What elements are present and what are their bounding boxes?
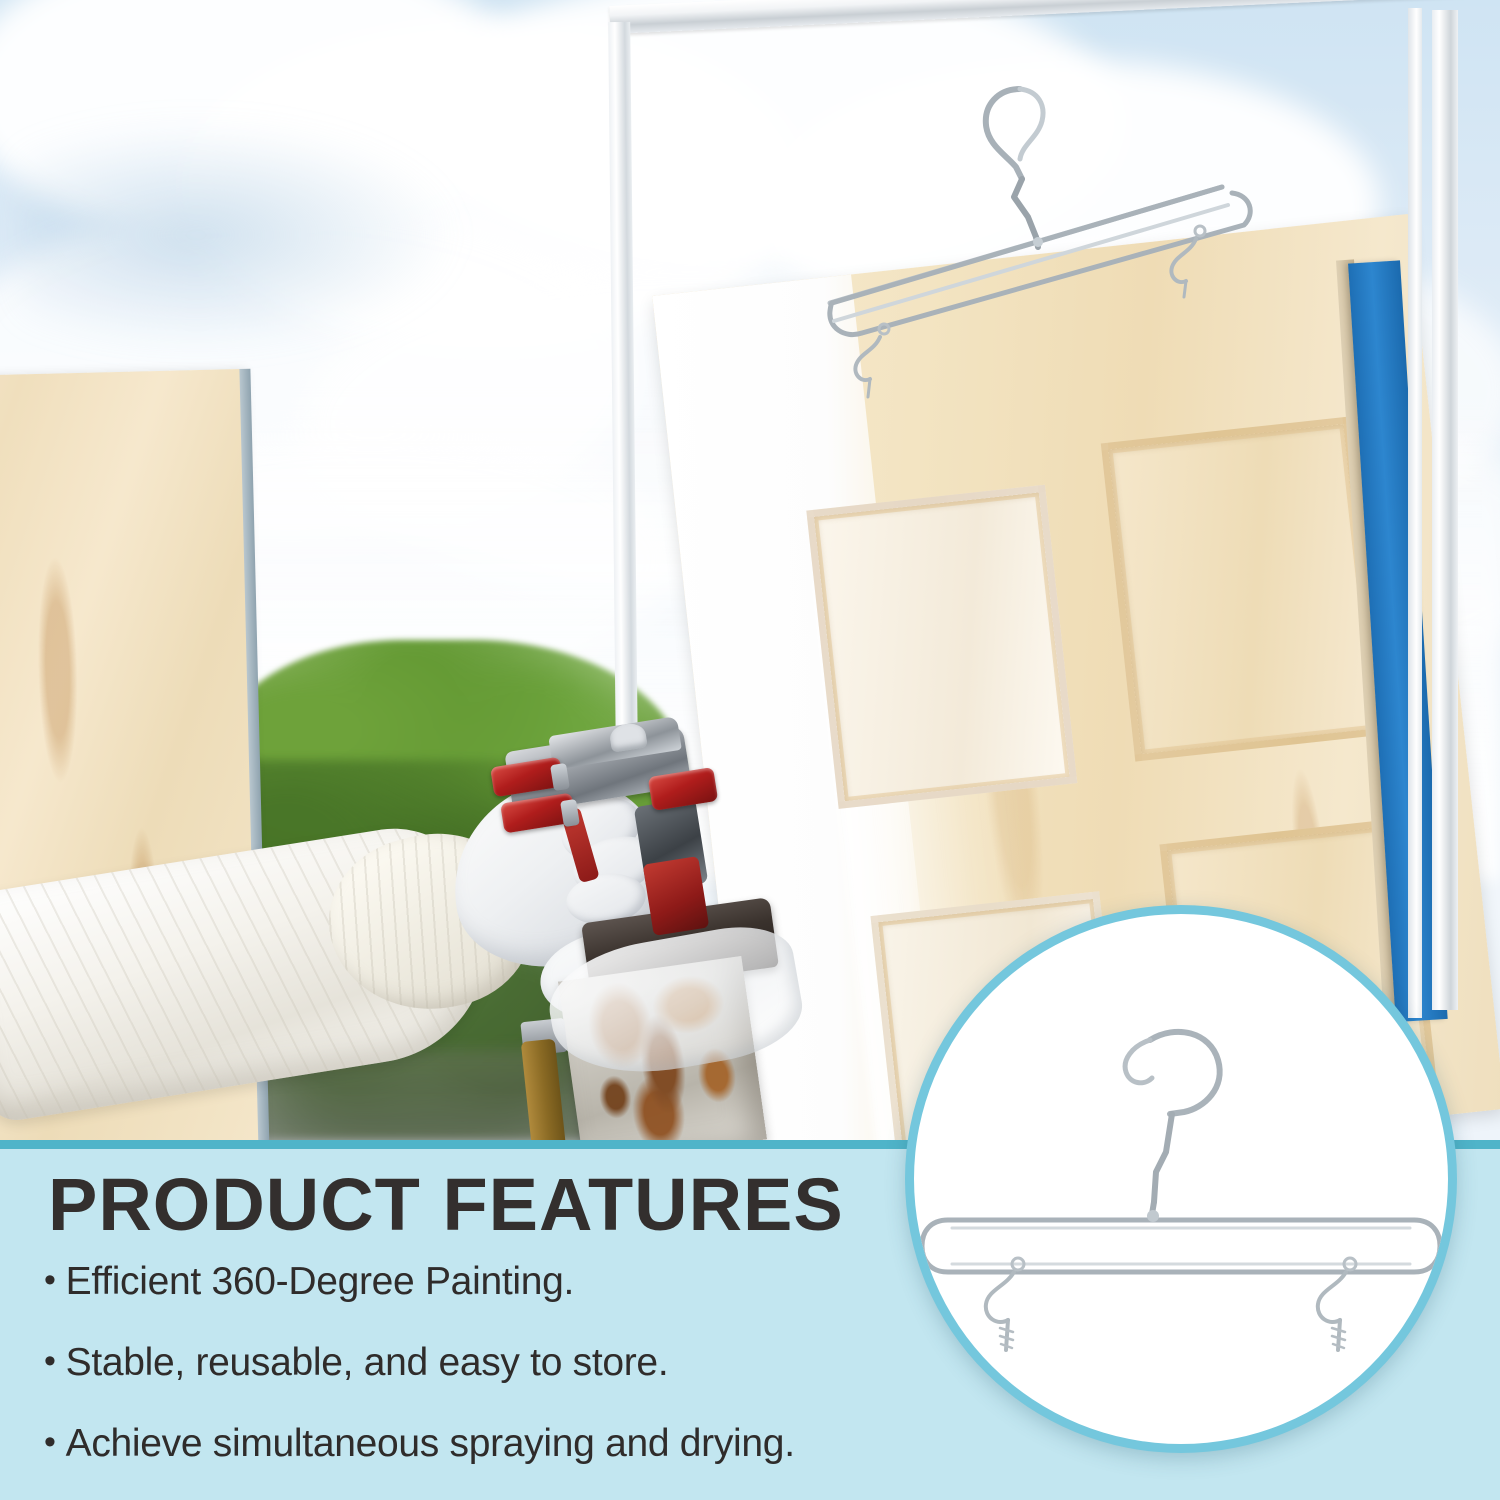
hanging-rail-post-right [1432, 10, 1458, 1010]
hanger-on-rail-icon [770, 75, 1270, 435]
bullet-icon: • [44, 1262, 56, 1299]
feature-list: • Efficient 360-Degree Painting. • Stabl… [44, 1262, 924, 1500]
door-panel [806, 485, 1077, 809]
list-item-label: Achieve simultaneous spraying and drying… [66, 1424, 795, 1465]
list-item: • Stable, reusable, and easy to store. [44, 1343, 924, 1384]
page-title: PRODUCT FEATURES [48, 1168, 844, 1242]
sky-shadow [20, 120, 460, 350]
hanger-product-icon [918, 1002, 1444, 1382]
door-panel [1101, 416, 1384, 761]
product-feature-image: PRODUCT FEATURES • Efficient 360-Degree … [0, 0, 1500, 1500]
list-item: • Efficient 360-Degree Painting. [44, 1262, 924, 1303]
air-hose [521, 1039, 569, 1148]
product-inset-circle [905, 905, 1457, 1453]
hanging-rail-post-right-inner [1408, 8, 1422, 1018]
list-item-label: Stable, reusable, and easy to store. [66, 1343, 669, 1384]
gun-handle [643, 856, 710, 936]
bullet-icon: • [44, 1424, 56, 1461]
bullet-icon: • [44, 1343, 56, 1380]
list-item: • Achieve simultaneous spraying and dryi… [44, 1424, 924, 1465]
paint-spray-gun [450, 720, 780, 1148]
list-item-label: Efficient 360-Degree Painting. [66, 1262, 574, 1303]
